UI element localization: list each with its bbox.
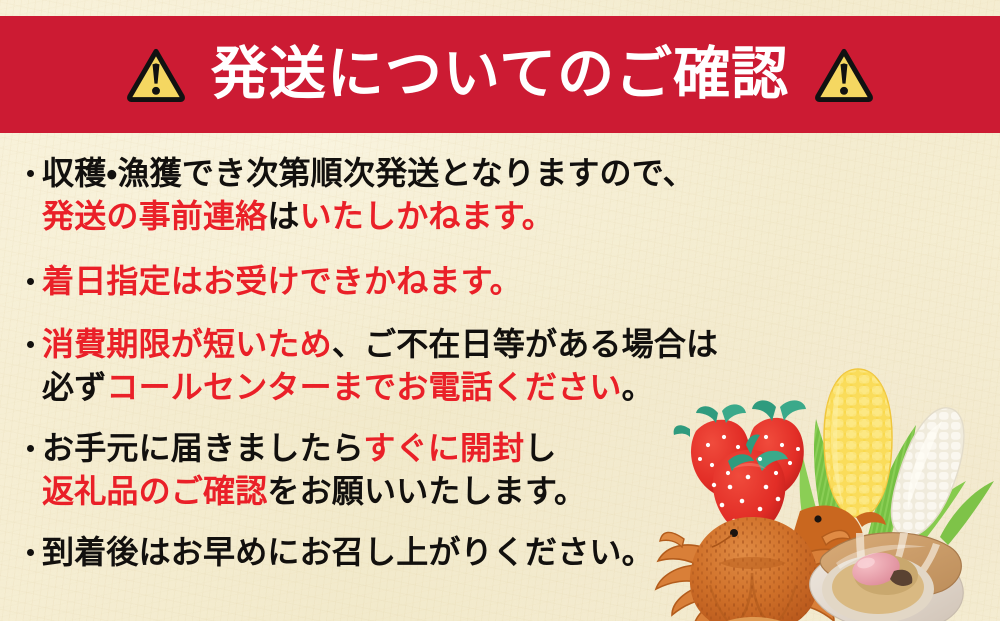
- note-line: 必ずコールセンターまでお電話ください。: [24, 366, 744, 409]
- note-line: 着日指定はお受けできかねます。: [24, 260, 744, 303]
- note-line: お手元に届きましたらすぐに開封し: [24, 427, 744, 470]
- note-segment: 到着後はお早めにお召し上がりください。: [42, 533, 654, 571]
- note-segment: お手元に届きましたら: [42, 429, 363, 467]
- note-segment: いたしかねます。: [300, 197, 554, 235]
- bullet-dot: [27, 549, 34, 556]
- notice-banner-page: 発送についてのご確認 収穫・漁獲でき次第順次発送となりますので、 発送の事前連絡…: [0, 0, 1000, 621]
- note-segment: 消費期限が短いため: [42, 325, 332, 363]
- note-segment: 。: [622, 368, 654, 406]
- note-segment: 、ご不在日等がある場合は: [332, 325, 718, 363]
- list-item: お手元に届きましたらすぐに開封し 返礼品のご確認をお願いいたします。: [24, 427, 744, 513]
- note-segment: 必ず: [42, 368, 106, 406]
- bullet-dot: [27, 445, 34, 452]
- header-banner: 発送についてのご確認: [0, 16, 1000, 133]
- note-line: 到着後はお早めにお召し上がりください。: [24, 531, 744, 574]
- note-segment: は: [267, 197, 299, 235]
- notice-list: 収穫・漁獲でき次第順次発送となりますので、 発送の事前連絡はいたしかねます。 着…: [24, 152, 744, 580]
- note-segment: をお願いいたします。: [267, 472, 586, 510]
- list-item: 収穫・漁獲でき次第順次発送となりますので、 発送の事前連絡はいたしかねます。: [24, 152, 744, 238]
- note-segment: 返礼品のご確認: [42, 472, 267, 510]
- warning-triangle-icon-right: [815, 48, 873, 102]
- note-segment: すぐに開封: [363, 429, 524, 467]
- note-segment: 発送の事前連絡: [42, 197, 267, 235]
- list-item: 消費期限が短いため、ご不在日等がある場合は 必ずコールセンターまでお電話ください…: [24, 323, 744, 409]
- bullet-dot: [27, 341, 34, 348]
- note-line: 収穫・漁獲でき次第順次発送となりますので、: [24, 152, 744, 195]
- note-segment: コールセンターまでお電話ください: [106, 368, 621, 406]
- list-item: 着日指定はお受けできかねます。: [24, 260, 744, 303]
- note-segment: 収穫・漁獲でき次第順次発送となりますので、: [42, 154, 695, 192]
- page-title: 発送についてのご確認: [211, 46, 789, 103]
- bullet-dot: [27, 170, 34, 177]
- list-item: 到着後はお早めにお召し上がりください。: [24, 531, 744, 574]
- note-segment: し: [524, 429, 556, 467]
- bullet-dot: [27, 278, 34, 285]
- note-line: 発送の事前連絡はいたしかねます。: [24, 195, 744, 238]
- note-line: 返礼品のご確認をお願いいたします。: [24, 470, 744, 513]
- note-line: 消費期限が短いため、ご不在日等がある場合は: [24, 323, 744, 366]
- warning-triangle-icon-left: [127, 48, 185, 102]
- note-segment: 着日指定はお受けできかねます。: [42, 262, 522, 300]
